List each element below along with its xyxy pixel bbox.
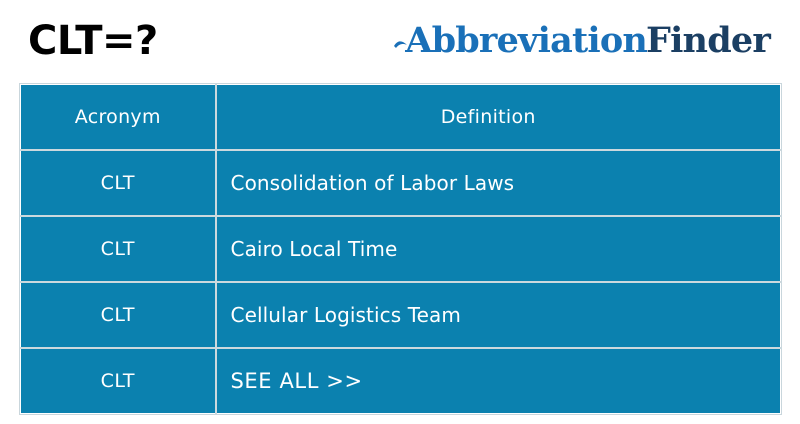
acronym-definition-table: Acronym Definition CLT Consolidation of …: [20, 84, 781, 414]
page-title: CLT=?: [28, 21, 158, 61]
cell-acronym: CLT: [21, 282, 216, 348]
brand-text-abbreviation: Abbreviation: [405, 23, 647, 58]
table-row: CLT Cairo Local Time: [21, 216, 781, 282]
table-header: Acronym Definition: [21, 85, 781, 151]
table-body: CLT Consolidation of Labor Laws CLT Cair…: [21, 150, 781, 414]
table-row: CLT Cellular Logistics Team: [21, 282, 781, 348]
table-header-row: Acronym Definition: [21, 85, 781, 151]
table-row: CLT Consolidation of Labor Laws: [21, 150, 781, 216]
column-header-acronym: Acronym: [21, 85, 216, 151]
table-row-see-all: CLT SEE ALL >>: [21, 348, 781, 414]
column-header-definition-label: Definition: [441, 106, 536, 128]
see-all-link[interactable]: SEE ALL >>: [231, 369, 363, 393]
brand-logo[interactable]: Abbreviation Finder: [394, 23, 770, 58]
page-root: CLT=? Abbreviation Finder Acronym Defini…: [0, 0, 800, 424]
cell-definition: Consolidation of Labor Laws: [216, 150, 781, 216]
cell-acronym: CLT: [21, 150, 216, 216]
column-header-definition: Definition: [216, 85, 781, 151]
cell-definition: Cellular Logistics Team: [216, 282, 781, 348]
swash-flourish-icon: [394, 30, 408, 52]
page-header: CLT=? Abbreviation Finder: [0, 0, 800, 80]
cell-acronym: CLT: [21, 348, 216, 414]
brand-text-finder: Finder: [646, 23, 770, 58]
cell-definition: Cairo Local Time: [216, 216, 781, 282]
cell-acronym: CLT: [21, 216, 216, 282]
cell-definition-see-all[interactable]: SEE ALL >>: [216, 348, 781, 414]
